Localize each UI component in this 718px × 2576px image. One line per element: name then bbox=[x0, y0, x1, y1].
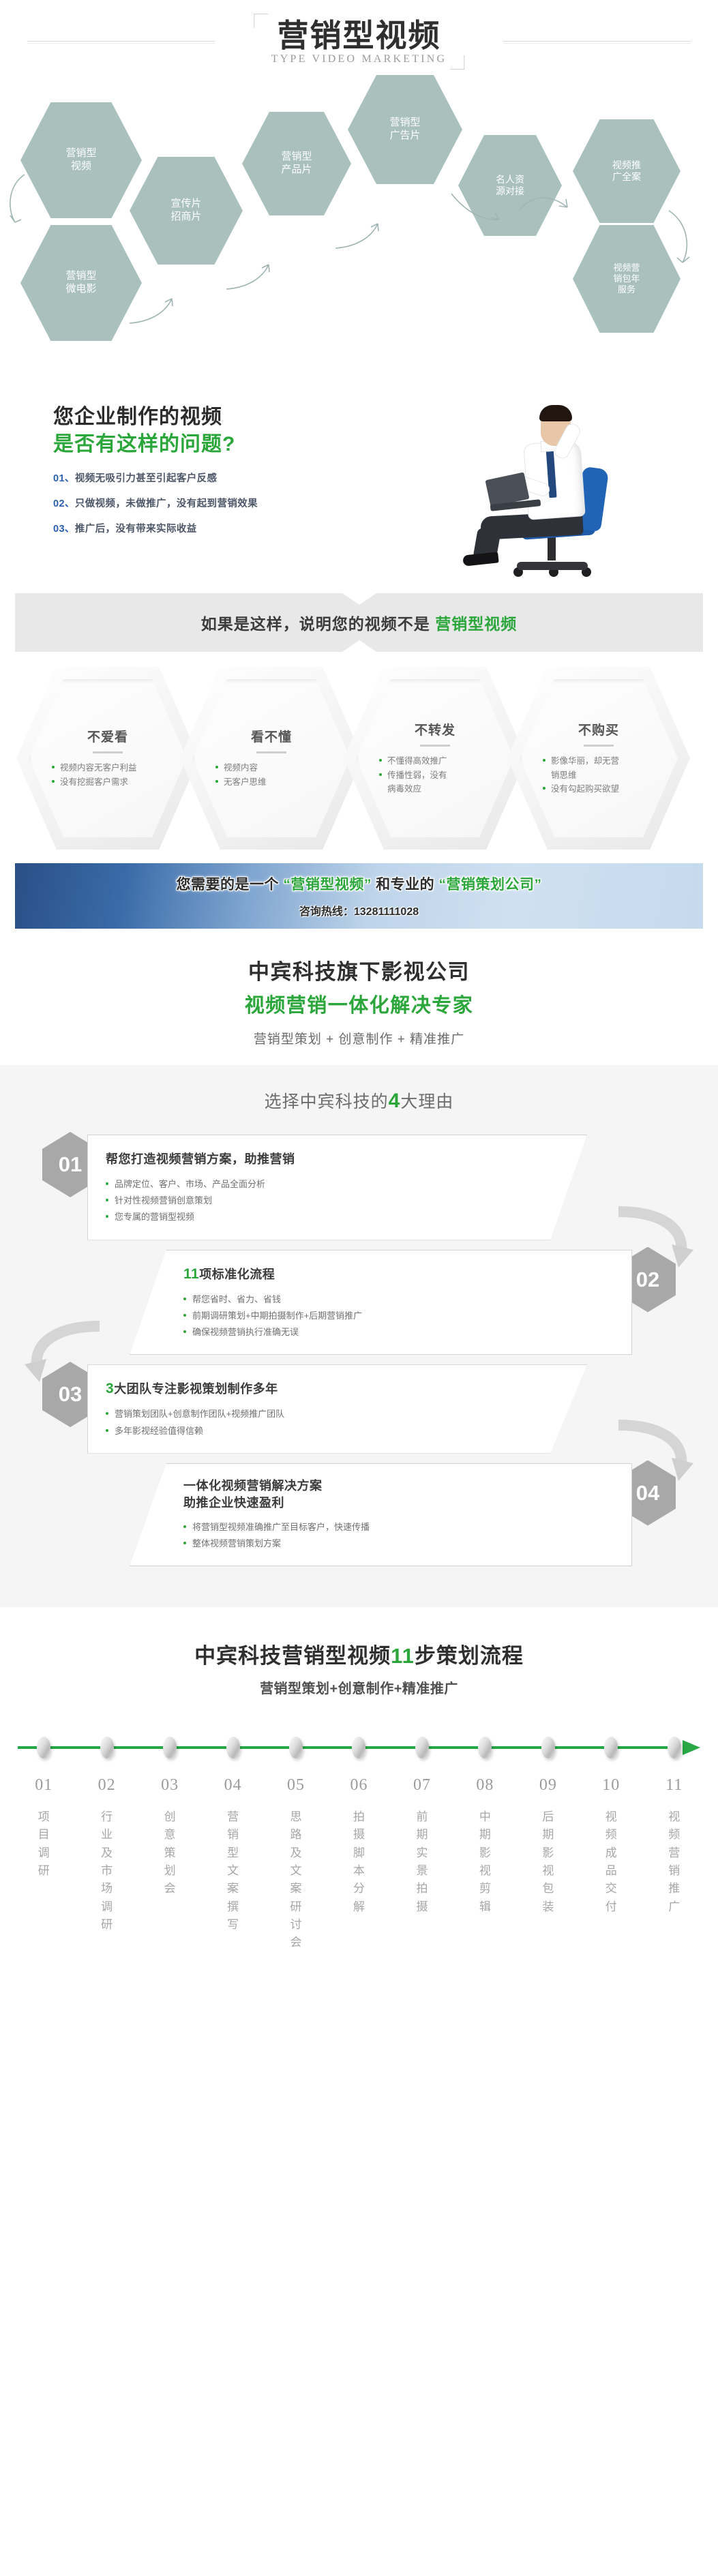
divider bbox=[584, 745, 614, 747]
reason-step: 04 一体化视频营销解决方案 助推企业快速盈利 将营销型视频准确推广至目标客户，… bbox=[0, 1463, 718, 1566]
timeline-step-label: 前期实景拍摄 bbox=[416, 1808, 428, 1916]
timeline-step[interactable]: 03创意策划会 bbox=[138, 1737, 201, 1952]
timeline-node-icon bbox=[415, 1737, 429, 1758]
blue-banner-part-a: 您需要的是一个 bbox=[176, 877, 283, 893]
reasons-title-b: 大理由 bbox=[400, 1092, 453, 1111]
blue-banner-quote-2: “营销策划公司” bbox=[439, 877, 542, 893]
hex-label: 营销型视频 bbox=[65, 147, 96, 173]
page-subtitle: TYPE VIDEO MARKETING bbox=[271, 53, 447, 65]
reason-step: 03 3大团队专注影视策划制作多年 营销策划团队+创意制作团队+视频推广团队 多… bbox=[0, 1364, 718, 1453]
problem-item-number: 03、 bbox=[53, 524, 75, 535]
problem-item-number: 02、 bbox=[53, 498, 75, 509]
bullet-item: 传播性弱，没有 bbox=[379, 768, 491, 783]
step-bullets: 帮您省时、省力、省钱 前期调研策划+中期拍摄制作+后期营销推广 确保视频营销执行… bbox=[183, 1291, 614, 1341]
hex-product-film[interactable]: 营销型产品片 bbox=[242, 112, 351, 215]
timeline-step-label: 视频营销推广 bbox=[668, 1808, 680, 1916]
timeline-node-icon bbox=[478, 1737, 492, 1758]
bullet-item: 视频内容无客户利益 bbox=[52, 761, 164, 775]
timeline-step-number: 05 bbox=[287, 1776, 305, 1795]
step-bullets: 品牌定位、客户、市场、产品全面分析 针对性视频营销创意策划 您专属的营销型视频 bbox=[106, 1176, 539, 1225]
hex-label: 视频营销包年服务 bbox=[613, 263, 640, 296]
timeline-header: 中宾科技营销型视频11步策划流程 营销型策划+创意制作+精准推广 bbox=[0, 1607, 718, 1697]
timeline-node-icon bbox=[226, 1737, 240, 1758]
timeline-step-number: 04 bbox=[224, 1776, 242, 1795]
problem-card[interactable]: 不转发 不懂得高效推广 传播性弱，没有 病毒效应 bbox=[344, 667, 526, 850]
step-title-number: 3 bbox=[106, 1381, 114, 1396]
problem-section: 您企业制作的视频 是否有这样的问题? 01、视频无吸引力甚至引起客户反感 02、… bbox=[0, 368, 718, 593]
step-title-number: 11 bbox=[183, 1266, 199, 1282]
hex-label: 营销型产品片 bbox=[281, 151, 312, 177]
reasons-title-number: 4 bbox=[389, 1090, 401, 1112]
step-title: 3大团队专注影视策划制作多年 bbox=[106, 1379, 539, 1398]
problem-card-title: 不爱看 bbox=[87, 727, 128, 745]
timeline-node-icon bbox=[541, 1737, 555, 1758]
businessman-photo bbox=[445, 375, 670, 580]
step-bullets: 营销策划团队+创意制作团队+视频推广团队 多年影视经验值得信赖 bbox=[106, 1406, 539, 1439]
step-bullets: 将营销型视频准确推广至目标客户，快速传播 整体视频营销策划方案 bbox=[183, 1519, 614, 1552]
company-title: 中宾科技旗下影视公司 bbox=[0, 955, 718, 985]
bullet-item: 品牌定位、客户、市场、产品全面分析 bbox=[106, 1176, 539, 1193]
problem-card[interactable]: 看不懂 视频内容 无客户思维 bbox=[180, 667, 363, 850]
bullet-item: 您专属的营销型视频 bbox=[106, 1209, 539, 1225]
bullet-item: 影像华丽，却无营 bbox=[543, 754, 655, 768]
service-hexagon-cloud: 营销型视频 宣传片招商片 营销型微电影 营销型产品片 营销型广告片 名人资源对接… bbox=[0, 95, 718, 368]
step-title-text: 大团队专注影视策划制作多年 bbox=[114, 1382, 278, 1396]
problem-cards-row: 不爱看 视频内容无客户利益 没有挖掘客户需求 看不懂 视频内容 无客户思维 不转… bbox=[0, 652, 718, 863]
problem-item: 01、视频无吸引力甚至引起客户反感 bbox=[53, 470, 258, 485]
step-card[interactable]: 11项标准化流程 帮您省时、省力、省钱 前期调研策划+中期拍摄制作+后期营销推广… bbox=[130, 1250, 632, 1356]
timeline-step-number: 03 bbox=[161, 1776, 179, 1795]
problem-item-text: 推广后，没有带来实际收益 bbox=[75, 524, 197, 535]
problem-card-title: 不购买 bbox=[578, 720, 619, 738]
bullet-item-continued: 销思维 bbox=[543, 768, 655, 783]
reasons-section: 选择中宾科技的4大理由 01 帮您打造视频营销方案，助推营销 品牌定位、客户、市… bbox=[0, 1065, 718, 1607]
gray-banner-accent: 营销型视频 bbox=[435, 615, 517, 633]
connector-arrow-7 bbox=[665, 208, 706, 269]
timeline-step-number: 07 bbox=[413, 1776, 431, 1795]
connector-arrow-2 bbox=[128, 293, 183, 327]
timeline-step-number: 10 bbox=[602, 1776, 620, 1795]
timeline-step[interactable]: 06拍摄脚本分解 bbox=[327, 1737, 390, 1952]
bullet-item: 将营销型视频准确推广至目标客户，快速传播 bbox=[183, 1519, 614, 1536]
header-rule-right bbox=[503, 41, 691, 42]
timeline-node-icon bbox=[668, 1737, 681, 1758]
bullet-item-continued: 病毒效应 bbox=[379, 782, 491, 796]
timeline-step[interactable]: 07前期实景拍摄 bbox=[391, 1737, 453, 1952]
timeline-step[interactable]: 10视频成品交付 bbox=[580, 1737, 642, 1952]
reasons-title-a: 选择中宾科技的 bbox=[265, 1092, 389, 1111]
hex-label: 营销型广告片 bbox=[389, 117, 420, 143]
timeline-title-a: 中宾科技营销型视频 bbox=[194, 1644, 391, 1668]
step-title: 帮您打造视频营销方案，助推营销 bbox=[106, 1149, 539, 1169]
timeline-step-number: 09 bbox=[539, 1776, 557, 1795]
hex-marketing-video[interactable]: 营销型视频 bbox=[20, 102, 142, 218]
step-title-text: 项标准化流程 bbox=[199, 1268, 275, 1281]
timeline-subtitle: 营销型策划+创意制作+精准推广 bbox=[0, 1677, 718, 1697]
problem-card-title: 看不懂 bbox=[251, 727, 292, 745]
divider bbox=[93, 751, 123, 753]
problem-heading-line2: 是否有这样的问题? bbox=[53, 427, 235, 457]
bullet-item: 无客户思维 bbox=[215, 775, 327, 790]
timeline-step-label: 营销型文案撰写 bbox=[227, 1808, 239, 1934]
timeline-step-label: 后期影视包装 bbox=[542, 1808, 554, 1916]
timeline-title: 中宾科技营销型视频11步策划流程 bbox=[0, 1638, 718, 1669]
reason-step: 02 11项标准化流程 帮您省时、省力、省钱 前期调研策划+中期拍摄制作+后期营… bbox=[0, 1250, 718, 1356]
gray-banner-text: 如果是这样，说明您的视频不是 营销型视频 bbox=[201, 611, 517, 634]
bullet-item: 多年影视经验值得信赖 bbox=[106, 1423, 539, 1439]
company-intro: 中宾科技旗下影视公司 视频营销一体化解决专家 营销型策划 + 创意制作 + 精准… bbox=[0, 929, 718, 1065]
timeline-step[interactable]: 01项目调研 bbox=[12, 1737, 75, 1952]
bullet-item: 帮您省时、省力、省钱 bbox=[183, 1291, 614, 1308]
connector-arrow-6 bbox=[518, 192, 573, 220]
step-title: 一体化视频营销解决方案 助推企业快速盈利 bbox=[183, 1478, 614, 1512]
hex-label: 视频推广全案 bbox=[612, 160, 641, 183]
problem-item-text: 只做视频，未做推广，没有起到营销效果 bbox=[75, 498, 258, 509]
hotline-text: 咨询热线：13281111028 bbox=[299, 902, 419, 918]
timeline-step-label: 创意策划会 bbox=[164, 1808, 176, 1898]
problem-card[interactable]: 不购买 影像华丽，却无营 销思维 没有勾起购买欲望 bbox=[507, 667, 690, 850]
timeline-step-number: 08 bbox=[476, 1776, 494, 1795]
step-title-text: 帮您打造视频营销方案，助推营销 bbox=[106, 1152, 295, 1166]
gray-banner-plain: 如果是这样，说明您的视频不是 bbox=[201, 615, 435, 633]
timeline-step-label: 拍摄脚本分解 bbox=[353, 1808, 365, 1916]
problem-card[interactable]: 不爱看 视频内容无客户利益 没有挖掘客户需求 bbox=[16, 667, 199, 850]
timeline-step[interactable]: 09后期影视包装 bbox=[517, 1737, 580, 1952]
header-rule-left bbox=[27, 41, 215, 42]
bullet-item: 没有挖掘客户需求 bbox=[52, 775, 164, 790]
problem-item: 03、推广后，没有带来实际收益 bbox=[53, 521, 258, 535]
bullet-item: 视频内容 bbox=[215, 761, 327, 775]
timeline-step-number: 06 bbox=[350, 1776, 368, 1795]
step-card[interactable]: 一体化视频营销解决方案 助推企业快速盈利 将营销型视频准确推广至目标客户，快速传… bbox=[130, 1463, 632, 1566]
page-title: 营销型视频 bbox=[271, 19, 447, 52]
timeline-step-label: 视频成品交付 bbox=[605, 1808, 617, 1916]
bullet-item: 没有勾起购买欲望 bbox=[543, 782, 655, 796]
timeline-step-label: 项目调研 bbox=[38, 1808, 50, 1880]
banner-notch-bottom bbox=[342, 640, 376, 652]
reason-steps: 01 帮您打造视频营销方案，助推营销 品牌定位、客户、市场、产品全面分析 针对性… bbox=[0, 1135, 718, 1566]
connector-arrow-1 bbox=[4, 170, 31, 232]
problem-heading-line1: 您企业制作的视频 bbox=[53, 400, 222, 430]
problem-list: 01、视频无吸引力甚至引起客户反感 02、只做视频，未做推广，没有起到营销效果 … bbox=[53, 470, 258, 546]
reason-step: 01 帮您打造视频营销方案，助推营销 品牌定位、客户、市场、产品全面分析 针对性… bbox=[0, 1135, 718, 1240]
step-title: 11项标准化流程 bbox=[183, 1264, 614, 1284]
timeline-step[interactable]: 02行业及市场调研 bbox=[75, 1737, 138, 1952]
bullet-item: 针对性视频营销创意策划 bbox=[106, 1193, 539, 1209]
timeline-step[interactable]: 08中期影视剪辑 bbox=[453, 1737, 516, 1952]
problem-item-number: 01、 bbox=[53, 473, 75, 484]
bullet-item: 确保视频营销执行准确无误 bbox=[183, 1324, 614, 1341]
problem-card-bullets: 影像华丽，却无营 销思维 没有勾起购买欲望 bbox=[543, 754, 655, 796]
problem-card-bullets: 视频内容 无客户思维 bbox=[215, 761, 327, 789]
connector-arrow-3 bbox=[225, 259, 280, 293]
timeline-step-label: 思路及文案研讨会 bbox=[290, 1808, 302, 1952]
timeline-step[interactable]: 11视频营销推广 bbox=[643, 1737, 706, 1952]
connector-arrow-4 bbox=[334, 218, 389, 252]
blue-banner-quote-1: “营销型视频” bbox=[283, 877, 372, 893]
page-header: 营销型视频 TYPE VIDEO MARKETING bbox=[0, 0, 718, 95]
hex-micro-film[interactable]: 营销型微电影 bbox=[20, 225, 142, 341]
hex-label: 宣传片招商片 bbox=[170, 198, 201, 224]
timeline-step-number: 11 bbox=[665, 1776, 683, 1795]
step-card[interactable]: 3大团队专注影视策划制作多年 营销策划团队+创意制作团队+视频推广团队 多年影视… bbox=[87, 1364, 587, 1453]
timeline-title-b: 步策划流程 bbox=[415, 1644, 524, 1668]
timeline-node-icon bbox=[289, 1737, 303, 1758]
hex-promo-film[interactable]: 宣传片招商片 bbox=[130, 157, 243, 265]
blue-banner-headline: 您需要的是一个 “营销型视频” 和专业的 “营销策划公司” bbox=[176, 873, 541, 894]
timeline-node-icon bbox=[37, 1737, 50, 1758]
header-title-box: 营销型视频 TYPE VIDEO MARKETING bbox=[254, 14, 464, 70]
gray-banner: 如果是这样，说明您的视频不是 营销型视频 bbox=[15, 593, 703, 652]
step-title-text: 一体化视频营销解决方案 助推企业快速盈利 bbox=[183, 1479, 323, 1510]
timeline-step-label: 中期影视剪辑 bbox=[479, 1808, 491, 1916]
timeline-step-number: 01 bbox=[35, 1776, 53, 1795]
timeline-node-icon bbox=[352, 1737, 365, 1758]
hex-label: 营销型微电影 bbox=[65, 270, 96, 296]
problem-card-bullets: 视频内容无客户利益 没有挖掘客户需求 bbox=[52, 761, 164, 789]
banner-notch-top bbox=[342, 593, 376, 605]
company-tagline: 视频营销一体化解决专家 bbox=[0, 989, 718, 1018]
timeline-step-number: 02 bbox=[98, 1776, 116, 1795]
divider bbox=[420, 745, 450, 747]
step-card[interactable]: 帮您打造视频营销方案，助推营销 品牌定位、客户、市场、产品全面分析 针对性视频营… bbox=[87, 1135, 587, 1240]
timeline-step[interactable]: 05思路及文案研讨会 bbox=[265, 1737, 327, 1952]
timeline-node-icon bbox=[100, 1737, 114, 1758]
bullet-item: 前期调研策划+中期拍摄制作+后期营销推广 bbox=[183, 1308, 614, 1324]
bullet-item: 营销策划团队+创意制作团队+视频推广团队 bbox=[106, 1406, 539, 1422]
problem-card-title: 不转发 bbox=[415, 720, 455, 738]
timeline-items: 01项目调研02行业及市场调研03创意策划会04营销型文案撰写05思路及文案研讨… bbox=[12, 1737, 706, 1952]
bullet-item: 整体视频营销策划方案 bbox=[183, 1536, 614, 1552]
page-root: 营销型视频 TYPE VIDEO MARKETING 营销型视频 宣传片招商片 … bbox=[0, 0, 718, 2050]
timeline-title-number: 11 bbox=[391, 1644, 415, 1668]
divider bbox=[256, 751, 286, 753]
company-services: 营销型策划 + 创意制作 + 精准推广 bbox=[0, 1029, 718, 1047]
timeline-step-label: 行业及市场调研 bbox=[101, 1808, 113, 1934]
connector-arrow-5 bbox=[450, 190, 505, 228]
timeline-node-icon bbox=[604, 1737, 618, 1758]
problem-card-bullets: 不懂得高效推广 传播性弱，没有 病毒效应 bbox=[379, 754, 491, 796]
problem-item-text: 视频无吸引力甚至引起客户反感 bbox=[75, 473, 218, 484]
blue-cta-banner: 您需要的是一个 “营销型视频” 和专业的 “营销策划公司” 咨询热线：13281… bbox=[15, 863, 703, 929]
timeline-step[interactable]: 04营销型文案撰写 bbox=[201, 1737, 264, 1952]
bullet-item: 不懂得高效推广 bbox=[379, 754, 491, 768]
reasons-title: 选择中宾科技的4大理由 bbox=[0, 1088, 718, 1113]
problem-item: 02、只做视频，未做推广，没有起到营销效果 bbox=[53, 496, 258, 510]
blue-banner-part-b: 和专业的 bbox=[372, 877, 439, 893]
timeline-node-icon bbox=[163, 1737, 177, 1758]
timeline: 01项目调研02行业及市场调研03创意策划会04营销型文案撰写05思路及文案研讨… bbox=[12, 1737, 706, 2023]
